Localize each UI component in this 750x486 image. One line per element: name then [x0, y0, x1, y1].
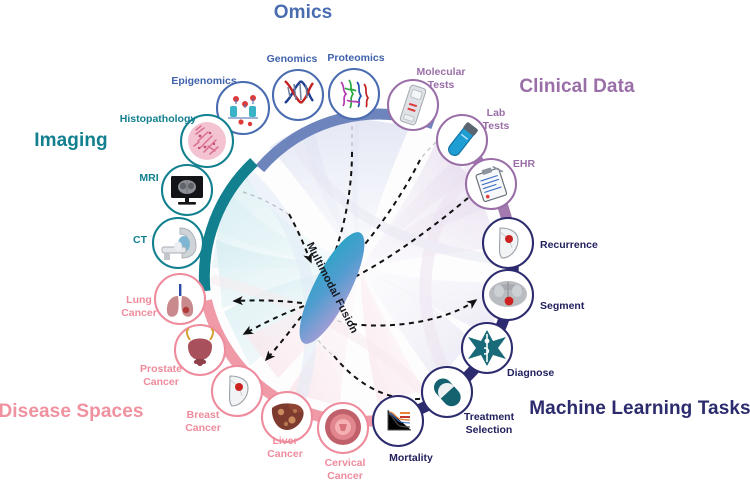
node-label-treatment-2: Selection	[466, 424, 513, 436]
survival-plot-icon	[385, 408, 412, 433]
node-circle[interactable]	[273, 70, 323, 120]
node-label-lab-tests-2: Tests	[483, 120, 510, 132]
multimodal-fusion-diagram: Multimodal Fusion Omics Clinical Data Im…	[0, 0, 750, 486]
node-treatment-selection[interactable]	[422, 367, 472, 417]
node-label-lab-tests-1: Lab	[487, 107, 506, 119]
section-title-disease: Disease Spaces	[0, 401, 144, 422]
node-mri[interactable]	[162, 165, 212, 215]
node-label-breast-1: Breast	[187, 409, 220, 421]
node-label-proteomics: Proteomics	[327, 52, 384, 64]
node-label-liver-2: Cancer	[267, 448, 303, 460]
brain-seg-icon	[489, 281, 527, 307]
cervix-icon	[325, 409, 361, 445]
node-label-ehr: EHR	[513, 158, 536, 170]
node-label-lung-2: Cancer	[121, 307, 157, 319]
node-genomics[interactable]	[273, 70, 323, 120]
node-label-ct: CT	[133, 234, 148, 246]
section-title-omics: Omics	[274, 2, 333, 23]
node-label-histopathology: Histopathology	[120, 113, 197, 125]
node-label-recurrence: Recurrence	[540, 239, 598, 251]
node-label-treatment-1: Treatment	[464, 411, 515, 423]
node-mortality[interactable]	[373, 396, 423, 446]
node-segment[interactable]	[483, 270, 533, 320]
node-proteomics[interactable]	[329, 69, 379, 119]
node-label-mortality: Mortality	[389, 452, 433, 464]
node-label-cervical-1: Cervical	[325, 457, 366, 469]
node-label-diagnose: Diagnose	[507, 367, 554, 379]
node-label-epigenomics: Epigenomics	[171, 75, 237, 87]
node-label-cervical-2: Cancer	[327, 470, 363, 482]
node-recurrence[interactable]	[483, 218, 533, 268]
node-lung-cancer[interactable]	[155, 274, 205, 324]
node-circle[interactable]	[155, 274, 205, 324]
node-cervical-cancer[interactable]	[318, 403, 368, 453]
node-label-mri: MRI	[139, 172, 158, 184]
node-label-prostate-1: Prostate	[140, 363, 182, 375]
node-ehr[interactable]	[466, 159, 516, 209]
section-title-ml: Machine Learning Tasks	[529, 398, 750, 419]
node-label-segment: Segment	[540, 300, 585, 312]
histology-icon	[188, 122, 226, 160]
node-lab-tests[interactable]	[437, 115, 487, 165]
node-diagnose[interactable]	[462, 323, 512, 373]
node-label-molecular-tests-1: Molecular	[416, 66, 465, 78]
node-label-breast-2: Cancer	[185, 422, 221, 434]
node-label-liver-1: Liver	[272, 435, 297, 447]
node-label-prostate-2: Cancer	[143, 376, 179, 388]
node-ct[interactable]	[153, 218, 203, 268]
node-label-molecular-tests-2: Tests	[428, 79, 455, 91]
section-title-imaging: Imaging	[34, 130, 108, 151]
node-prostate-cancer[interactable]	[175, 325, 225, 375]
section-title-clinical: Clinical Data	[519, 76, 635, 97]
node-label-genomics: Genomics	[267, 53, 318, 65]
node-label-lung-1: Lung	[126, 294, 152, 306]
diagram-canvas: Multimodal Fusion Omics Clinical Data Im…	[0, 0, 750, 486]
node-breast-cancer[interactable]	[212, 366, 262, 416]
